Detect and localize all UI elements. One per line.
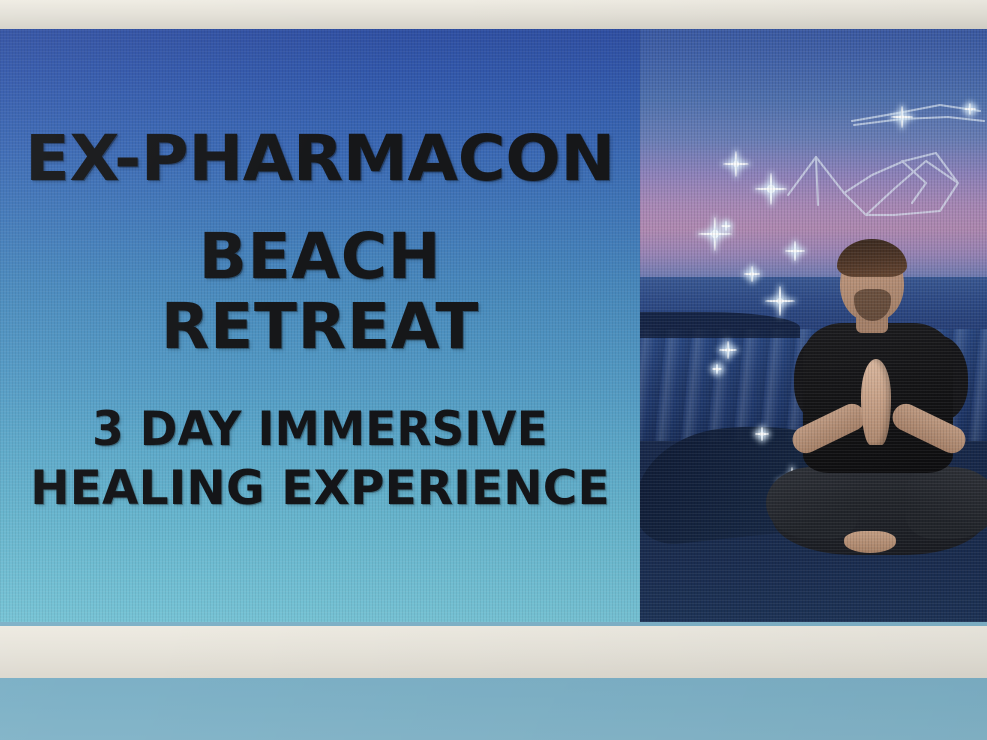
left-knee	[766, 467, 858, 539]
constellation-path-3	[844, 153, 958, 193]
prayer-hands-icon	[861, 359, 891, 445]
hair	[837, 239, 907, 277]
top-cream-band	[0, 0, 987, 29]
headline-line-beach: BEACH	[0, 225, 640, 288]
bare-foot	[844, 531, 896, 553]
poster-screenshot: EX-PHARMACON BEACH RETREAT 3 DAY IMMERSI…	[0, 0, 987, 740]
slide-text-panel: EX-PHARMACON BEACH RETREAT 3 DAY IMMERSI…	[0, 29, 640, 622]
headline-line-retreat: RETREAT	[0, 295, 640, 358]
meditating-man	[758, 239, 987, 584]
subhead-line-duration: 3 DAY IMMERSIVE	[11, 406, 629, 453]
constellation-path-4	[902, 161, 926, 203]
constellation-path-2	[788, 157, 958, 215]
retreat-photo	[640, 29, 987, 625]
headline-line-brand: EX-PHARMACON	[0, 127, 640, 190]
bottom-blue-band	[0, 678, 987, 740]
right-knee	[906, 467, 987, 539]
bottom-cream-band	[0, 626, 987, 678]
subhead-line-experience: HEALING EXPERIENCE	[0, 465, 640, 512]
constellation-path-5	[816, 157, 818, 205]
